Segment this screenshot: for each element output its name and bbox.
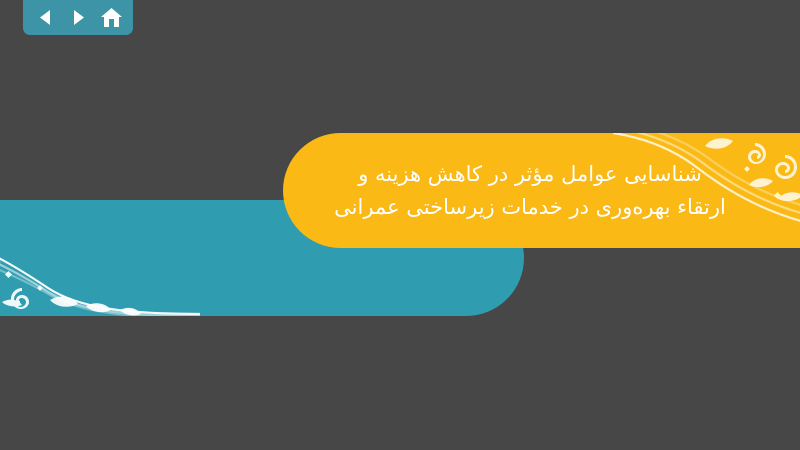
slide-title: شناسایی عوامل مؤثر در کاهش هزینه و ارتقا…	[300, 133, 760, 248]
navigation-bar	[23, 0, 133, 35]
next-slide-button[interactable]	[63, 5, 93, 31]
title-line-1: شناسایی عوامل مؤثر در کاهش هزینه و	[358, 158, 702, 191]
triangle-right-icon	[69, 8, 88, 27]
previous-slide-button[interactable]	[30, 5, 60, 31]
triangle-left-icon	[36, 8, 55, 27]
title-line-2: ارتقاء بهره‌وری در خدمات زیرساختی عمرانی	[334, 191, 726, 224]
slide-canvas: شناسایی عوامل مؤثر در کاهش هزینه و ارتقا…	[0, 0, 800, 450]
teal-arabesque-ornament-icon	[0, 200, 200, 316]
home-icon	[100, 7, 123, 28]
home-button[interactable]	[96, 5, 126, 31]
